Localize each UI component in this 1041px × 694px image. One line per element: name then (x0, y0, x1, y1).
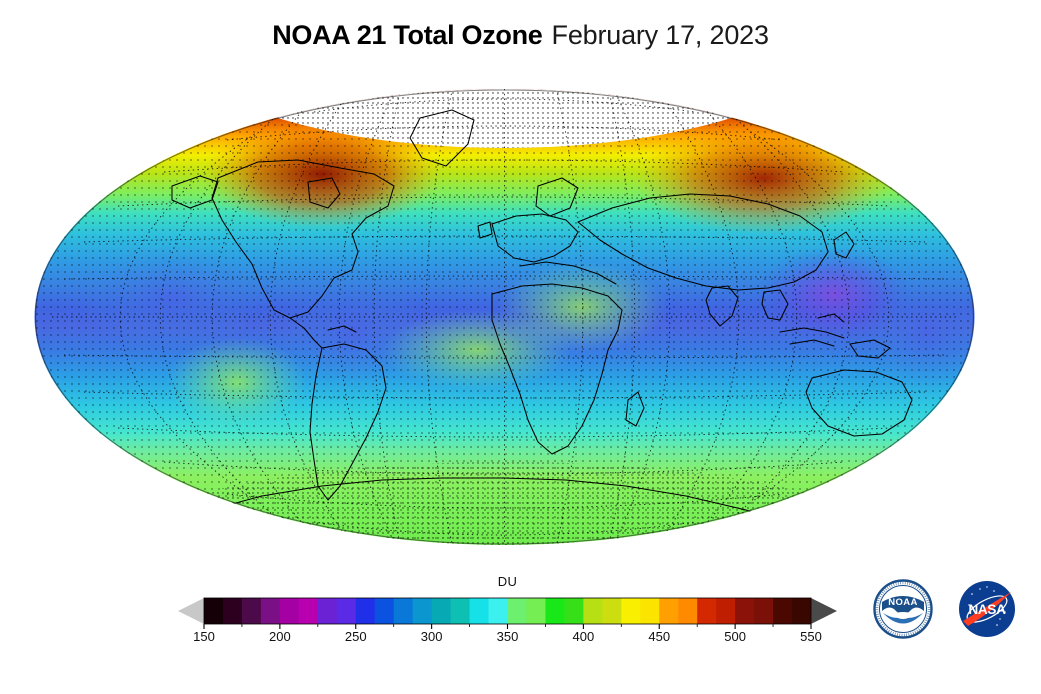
colorbar-tick-label: 350 (497, 629, 519, 644)
colorbar-band (280, 598, 299, 624)
colorbar-band (754, 598, 773, 624)
colorbar-over-arrow (811, 598, 837, 624)
colorbar-band (204, 598, 223, 624)
colorbar-tick-label: 500 (724, 629, 746, 644)
colorbar-band (470, 598, 489, 624)
colorbar-tick-label: 400 (573, 629, 595, 644)
colorbar-band (261, 598, 280, 624)
colorbar-band (451, 598, 470, 624)
colorbar-band (337, 598, 356, 624)
colorbar-band (564, 598, 583, 624)
colorbar-band (773, 598, 792, 624)
colorbar-band (489, 598, 508, 624)
title-date-text: February 17, 2023 (552, 20, 769, 50)
colorbar-tick-label: 300 (421, 629, 443, 644)
nasa-wordmark: NASA (968, 602, 1006, 617)
colorbar-tick-label: 550 (800, 629, 822, 644)
title-main-text: NOAA 21 Total Ozone (272, 20, 542, 50)
colorbar-band (413, 598, 432, 624)
colorbar-band (545, 598, 564, 624)
colorbar: DU 150200250300350400450500550 (170, 574, 845, 644)
colorbar-band (375, 598, 394, 624)
colorbar-band (678, 598, 697, 624)
colorbar-band (508, 598, 527, 624)
colorbar-tick-label: 150 (193, 629, 215, 644)
map-data-layer (22, 82, 987, 552)
colorbar-ticks: 150200250300350400450500550 (193, 624, 822, 644)
colorbar-tick-label: 450 (648, 629, 670, 644)
colorbar-band (223, 598, 242, 624)
colorbar-band (583, 598, 602, 624)
colorbar-band (659, 598, 678, 624)
colorbar-svg: 150200250300350400450500550 (170, 590, 845, 644)
colorbar-band (318, 598, 337, 624)
colorbar-band (356, 598, 375, 624)
colorbar-band (602, 598, 621, 624)
colorbar-band (242, 598, 261, 624)
noaa-wordmark: NOAA (888, 597, 918, 608)
colorbar-band (792, 598, 811, 624)
map-svg (22, 82, 987, 552)
colorbar-band (640, 598, 659, 624)
colorbar-band (621, 598, 640, 624)
agency-logos: NOAA NASA (872, 578, 1028, 644)
colorbar-tick-label: 200 (269, 629, 291, 644)
colorbar-band (432, 598, 451, 624)
colorbar-band (526, 598, 545, 624)
ozone-map (22, 82, 987, 552)
colorbar-band (394, 598, 413, 624)
nasa-logo: NASA (956, 578, 1018, 645)
colorbar-under-arrow (178, 598, 204, 624)
colorbar-unit-label: DU (170, 574, 845, 589)
colorbar-band (716, 598, 735, 624)
page-title: NOAA 21 Total OzoneFebruary 17, 2023 (0, 20, 1041, 51)
colorbar-bands (204, 598, 811, 624)
colorbar-tick-label: 250 (345, 629, 367, 644)
colorbar-band (697, 598, 716, 624)
colorbar-band (735, 598, 754, 624)
colorbar-band (299, 598, 318, 624)
noaa-logo: NOAA (872, 578, 934, 645)
